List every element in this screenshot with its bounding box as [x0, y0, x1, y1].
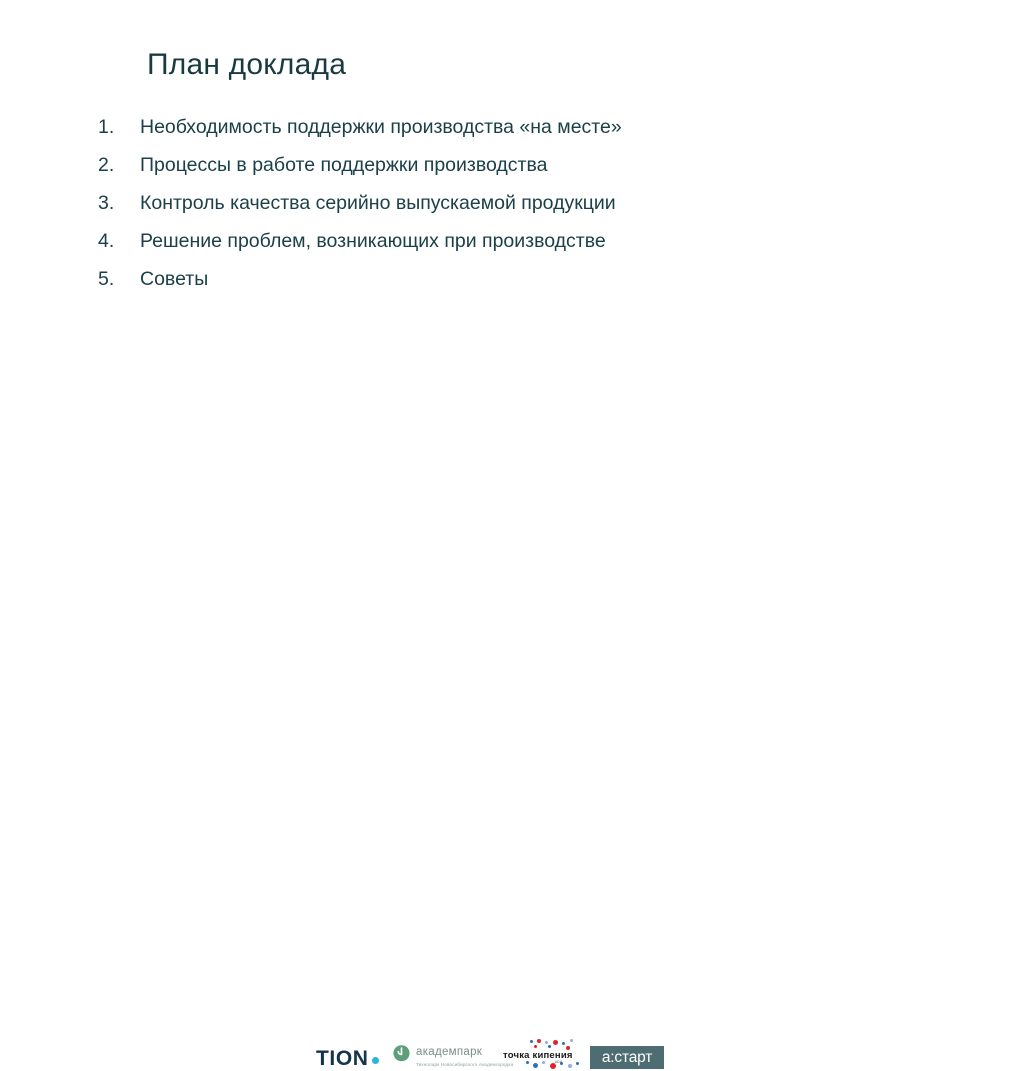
list-item: 2. Процессы в работе поддержки производс…	[98, 154, 898, 192]
astart-logo: а:старт	[590, 1046, 664, 1069]
presentation-slide: План доклада 1. Необходимость поддержки …	[0, 0, 1024, 574]
tochka-dot-icon	[545, 1041, 548, 1044]
akadempark-logo: академпарк Технопарк Новосибирского Акад…	[392, 1042, 513, 1067]
akadempark-mark-icon	[392, 1044, 411, 1063]
list-item-number: 3.	[98, 192, 140, 215]
tochka-kipeniya-logo: точка кипения АСИ	[500, 1039, 586, 1071]
list-item: 1. Необходимость поддержки производства …	[98, 116, 898, 154]
tochka-dot-icon	[550, 1063, 556, 1069]
tochka-dot-icon	[576, 1062, 579, 1065]
tochka-dot-icon	[534, 1045, 537, 1048]
tochka-dot-icon	[560, 1062, 563, 1065]
tion-logo: TION	[316, 1047, 379, 1071]
agenda-list: 1. Необходимость поддержки производства …	[98, 116, 898, 306]
akadempark-wordmark: академпарк	[416, 1047, 513, 1059]
list-item: 3. Контроль качества серийно выпускаемой…	[98, 192, 898, 230]
tochka-dot-icon	[526, 1061, 529, 1064]
page-title: План доклада	[147, 48, 346, 82]
list-item: 5. Советы	[98, 268, 898, 306]
list-item-number: 4.	[98, 230, 140, 253]
tochka-dot-icon	[530, 1040, 533, 1043]
list-item-label: Решение проблем, возникающих при произво…	[140, 230, 606, 253]
tochka-dot-icon	[570, 1039, 573, 1042]
list-item-label: Советы	[140, 268, 208, 291]
tochka-dot-icon	[537, 1039, 541, 1043]
tochka-dot-icon	[568, 1064, 572, 1068]
tochka-dot-icon	[542, 1061, 545, 1064]
tion-logo-wordmark: TION	[316, 1047, 369, 1071]
list-item-number: 5.	[98, 268, 140, 291]
tochka-dot-icon	[548, 1045, 551, 1048]
tochka-dot-icon	[562, 1042, 565, 1045]
list-item-label: Необходимость поддержки производства «на…	[140, 116, 622, 139]
tochka-dot-icon	[553, 1040, 558, 1045]
astart-wordmark: а:старт	[602, 1049, 652, 1067]
list-item-number: 2.	[98, 154, 140, 177]
tochka-dot-icon	[533, 1063, 538, 1068]
list-item: 4. Решение проблем, возникающих при прои…	[98, 230, 898, 268]
akadempark-text-block: академпарк Технопарк Новосибирского Акад…	[416, 1042, 513, 1067]
list-item-label: Процессы в работе поддержки производства	[140, 154, 547, 177]
list-item-label: Контроль качества серийно выпускаемой пр…	[140, 192, 616, 215]
tochka-kipeniya-wordmark: точка кипения	[503, 1050, 573, 1061]
akadempark-tagline: Технопарк Новосибирского Академгородка	[416, 1062, 513, 1067]
sponsor-logo-strip: TION академпарк Технопарк Новосибирского…	[0, 518, 1024, 562]
tion-dot-icon	[372, 1057, 379, 1064]
list-item-number: 1.	[98, 116, 140, 139]
